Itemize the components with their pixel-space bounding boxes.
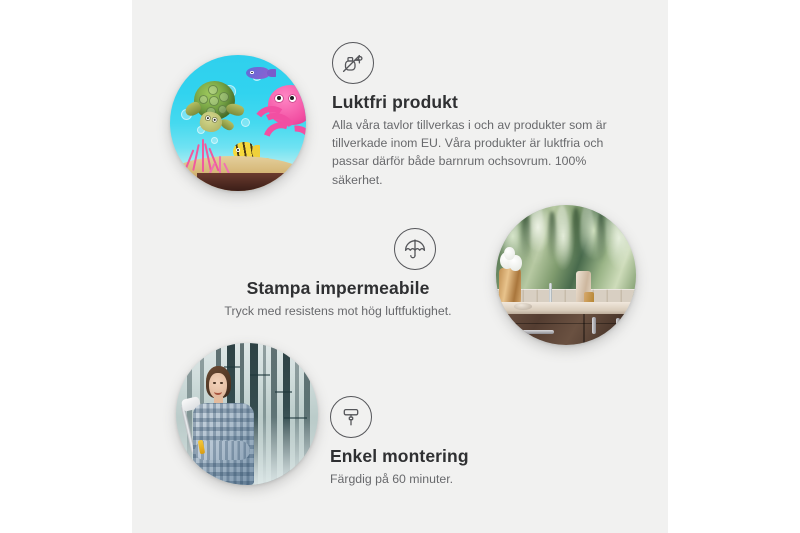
faucet: [549, 283, 552, 303]
woman-with-paint-roller: [185, 366, 267, 485]
cabinet-handle[interactable]: [616, 318, 620, 334]
image-underwater-kids-scene: [170, 55, 306, 191]
feature-description: Tryck med resistens mot hög luftfuktighe…: [188, 302, 488, 320]
wooden-vanity-cabinet: [496, 314, 636, 346]
bathroom-photo: [496, 205, 636, 345]
paint-roller-icon: [330, 396, 372, 438]
feature-description: Alla våra tavlor tillverkas i och av pro…: [332, 116, 632, 189]
cabinet-handle[interactable]: [592, 317, 596, 333]
umbrella-icon: [394, 228, 436, 270]
no-odour-perfume-icon: [332, 42, 374, 84]
white-flowers: [496, 247, 525, 275]
blue-fish: [246, 67, 269, 79]
foreground-shadow: [197, 173, 295, 191]
feature-title: Luktfri produkt: [332, 92, 632, 113]
feature-title: Stampa impermeabile: [188, 278, 488, 299]
sea-turtle: [184, 78, 247, 138]
drawer-handle[interactable]: [522, 330, 554, 334]
feature-waterproof: Stampa impermeabile Tryck med resistens …: [188, 228, 488, 320]
feature-odour-free: Luktfri produkt Alla våra tavlor tillver…: [332, 42, 632, 189]
promo-page: Luktfri produkt Alla våra tavlor tillver…: [0, 0, 800, 533]
feature-title: Enkel montering: [330, 446, 580, 467]
forest-photo: [176, 343, 318, 485]
turtle-flipper: [225, 102, 245, 118]
feature-easy-mounting: Enkel montering Färgdig på 60 minuter.: [330, 396, 580, 488]
content-panel: Luktfri produkt Alla våra tavlor tillver…: [132, 0, 668, 533]
underwater-illustration: [170, 55, 306, 191]
image-bathroom-tropical-wallpaper: [496, 205, 636, 345]
image-woman-paint-roller-forest: [176, 343, 318, 485]
feature-description: Färgdig på 60 minuter.: [330, 470, 580, 488]
